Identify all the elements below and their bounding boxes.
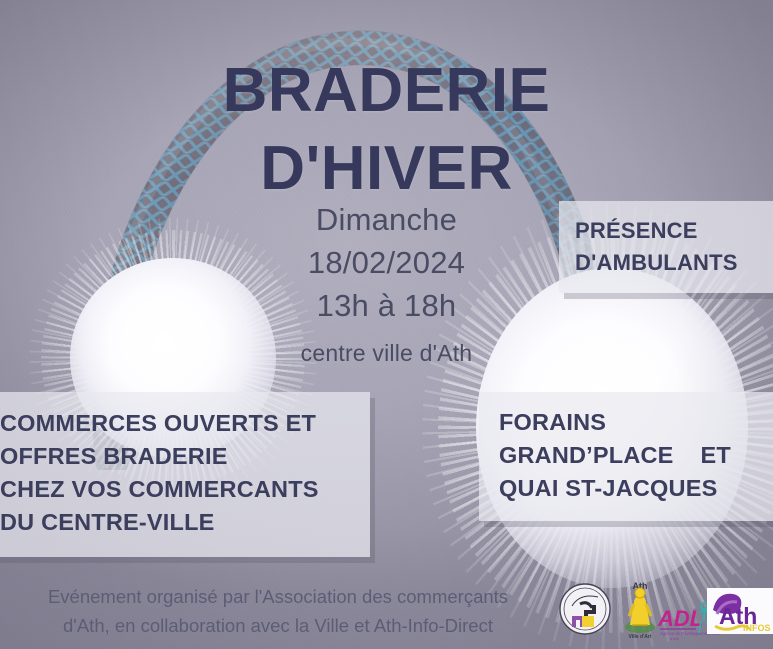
panel-forains: FORAINS GRAND’PLACE ET QUAI ST-JACQUES	[479, 392, 773, 521]
poster-title: BRADERIE D'HIVER	[0, 52, 773, 208]
panel-commerces-ouverts: COMMERCES OUVERTS ET OFFRES BRADERIE CHE…	[0, 392, 370, 557]
poster-canvas: BRADERIE D'HIVER Dimanche 18/02/2024 13h…	[0, 0, 773, 649]
title-line-1: BRADERIE	[223, 56, 551, 125]
svg-text:d'Ath: d'Ath	[670, 636, 679, 641]
svg-text:Ville d'Art: Ville d'Art	[628, 634, 651, 640]
panel-line: FORAINS	[499, 406, 773, 439]
credit-line-1: Evénement organisé par l'Association des…	[8, 582, 548, 611]
organizer-credit: Evénement organisé par l'Association des…	[8, 582, 548, 640]
title-line-2: D'HIVER	[0, 130, 773, 208]
panel-line: GRAND’PLACE ET	[499, 439, 773, 472]
ath-infos-logo: Ath INFOS	[707, 588, 773, 634]
panel-line: D'AMBULANTS	[575, 247, 773, 279]
panel-line: QUAI ST-JACQUES	[499, 472, 773, 505]
panel-line: PRÉSENCE	[575, 215, 773, 247]
panel-presence-ambulants: PRÉSENCE D'AMBULANTS	[559, 201, 773, 293]
panel-line: DU CENTRE-VILLE	[0, 506, 370, 539]
credit-line-2: d'Ath, en collaboration avec la Ville et…	[8, 611, 548, 640]
panel-line: COMMERCES OUVERTS ET	[0, 407, 370, 440]
panel-line: OFFRES BRADERIE	[0, 440, 370, 473]
ucm-seal-logo	[558, 582, 612, 636]
panel-line: CHEZ VOS COMMERCANTS	[0, 473, 370, 506]
partner-logos: Ath Ville d'Art ADL Agence de Développem…	[556, 578, 773, 646]
event-place: centre ville d'Ath	[0, 338, 773, 368]
svg-text:INFOS: INFOS	[743, 623, 771, 633]
svg-text:ADL: ADL	[657, 606, 703, 631]
